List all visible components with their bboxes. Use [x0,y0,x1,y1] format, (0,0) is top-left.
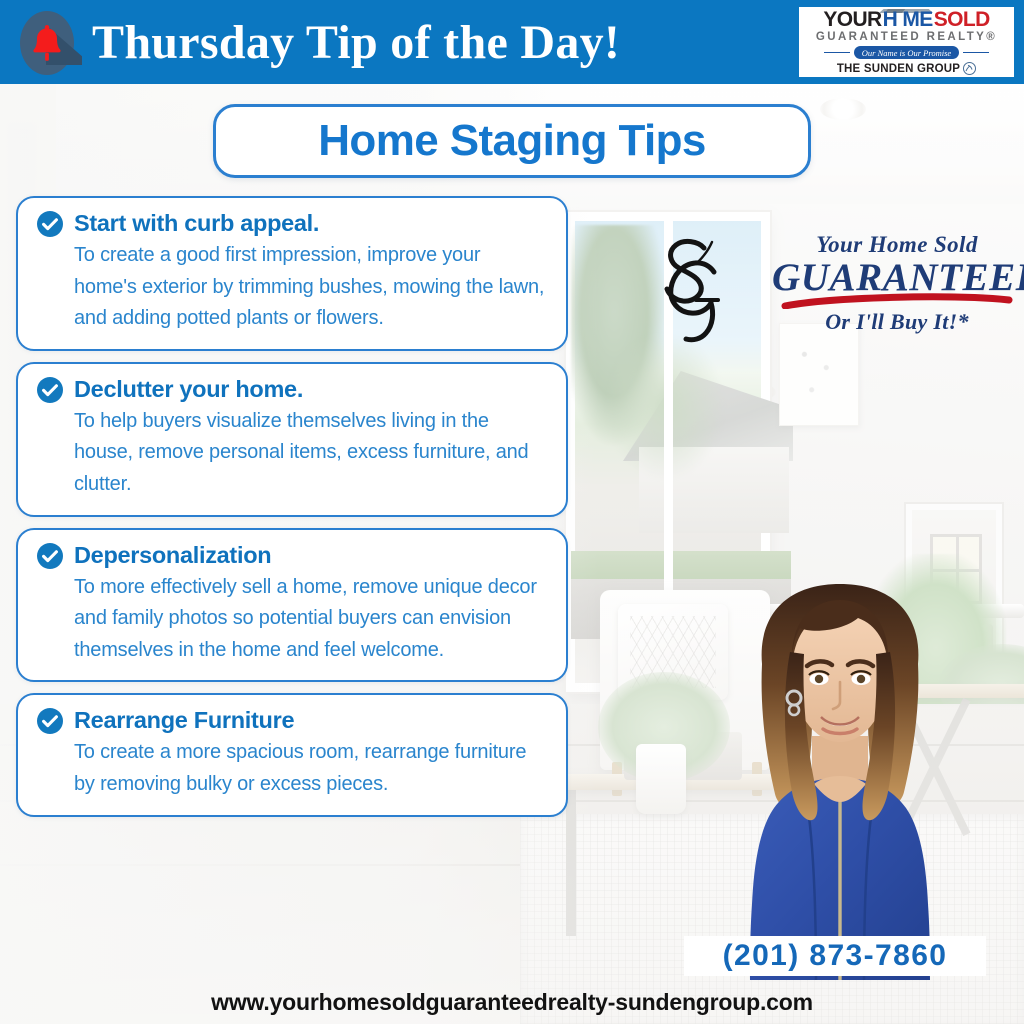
logo-rule-left [824,52,850,53]
tip-card-header: Start with curb appeal. [36,210,548,238]
logo-tagline: GUARANTEED REALTY® [816,32,997,44]
check-circle-icon [36,210,64,238]
tips-list: Start with curb appeal. To create a good… [16,196,568,828]
tip-body: To create a good first impression, impro… [36,240,548,335]
tip-body: To help buyers visualize themselves livi… [36,406,548,501]
website-url[interactable]: www.yourhomesoldguaranteedrealty-sundeng… [211,989,813,1016]
phone-number[interactable]: (201) 873-7860 [723,939,948,973]
check-circle-icon [36,542,64,570]
tip-card: Start with curb appeal. To create a good… [16,196,568,351]
phone-badge[interactable]: (201) 873-7860 [684,936,986,976]
tip-title: Depersonalization [74,543,271,569]
iris-left [815,675,823,683]
tip-card-header: Depersonalization [36,542,548,570]
tip-title: Start with curb appeal. [74,211,319,237]
tip-title: Rearrange Furniture [74,708,294,734]
page-title: Thursday Tip of the Day! [82,15,799,70]
logo-group-row: THE SUNDEN GROUP [837,62,976,75]
guarantee-line2: GUARANTEED [772,258,1022,297]
footer-bar: www.yourhomesoldguaranteedrealty-sundeng… [0,980,1024,1024]
brand-logo: YOURH MESOLD GUARANTEED REALTY® Our Name… [799,7,1014,77]
logo-rule-right [963,52,989,53]
logo-group-name: THE SUNDEN GROUP [837,63,960,75]
bell-badge [8,5,82,79]
logo-sold: SOLD [934,9,990,30]
ceramic-vase [636,744,686,814]
downlight-icon [820,98,866,120]
guarantee-line1: Your Home Sold [772,232,1022,257]
iris-right [857,675,865,683]
tip-body: To create a more spacious room, rearrang… [36,737,548,800]
tip-body: To more effectively sell a home, remove … [36,572,548,667]
section-title-pill: Home Staging Tips [213,104,811,178]
guarantee-watermark: Your Home Sold GUARANTEED Or I'll Buy It… [626,228,1018,358]
logo-promise: Our Name is Our Promise [854,46,959,59]
agent-mark-icon [963,62,976,75]
poster-canvas: Thursday Tip of the Day! YOURH MESOLD GU… [0,0,1024,1024]
tip-card-header: Declutter your home. [36,376,548,404]
bell-icon [31,23,63,63]
logo-promise-row: Our Name is Our Promise [801,46,1012,59]
check-circle-icon [36,707,64,735]
tip-card: Declutter your home. To help buyers visu… [16,362,568,517]
tip-card: Depersonalization To more effectively se… [16,528,568,683]
agent-portrait [690,560,990,980]
tip-title: Declutter your home. [74,377,303,403]
guarantee-line3: Or I'll Buy It!* [772,310,1022,334]
header-bar: Thursday Tip of the Day! YOURH MESOLD GU… [0,0,1024,84]
tip-card: Rearrange Furniture To create a more spa… [16,693,568,816]
sg-monogram-icon [626,228,746,348]
section-title: Home Staging Tips [318,116,705,166]
check-circle-icon [36,376,64,404]
logo-your: YOUR [823,9,881,30]
tip-card-header: Rearrange Furniture [36,707,548,735]
guarantee-text: Your Home Sold GUARANTEED Or I'll Buy It… [772,232,1022,334]
logo-home: H ME [882,9,934,30]
logo-wordmark: YOURH MESOLD [823,9,989,30]
